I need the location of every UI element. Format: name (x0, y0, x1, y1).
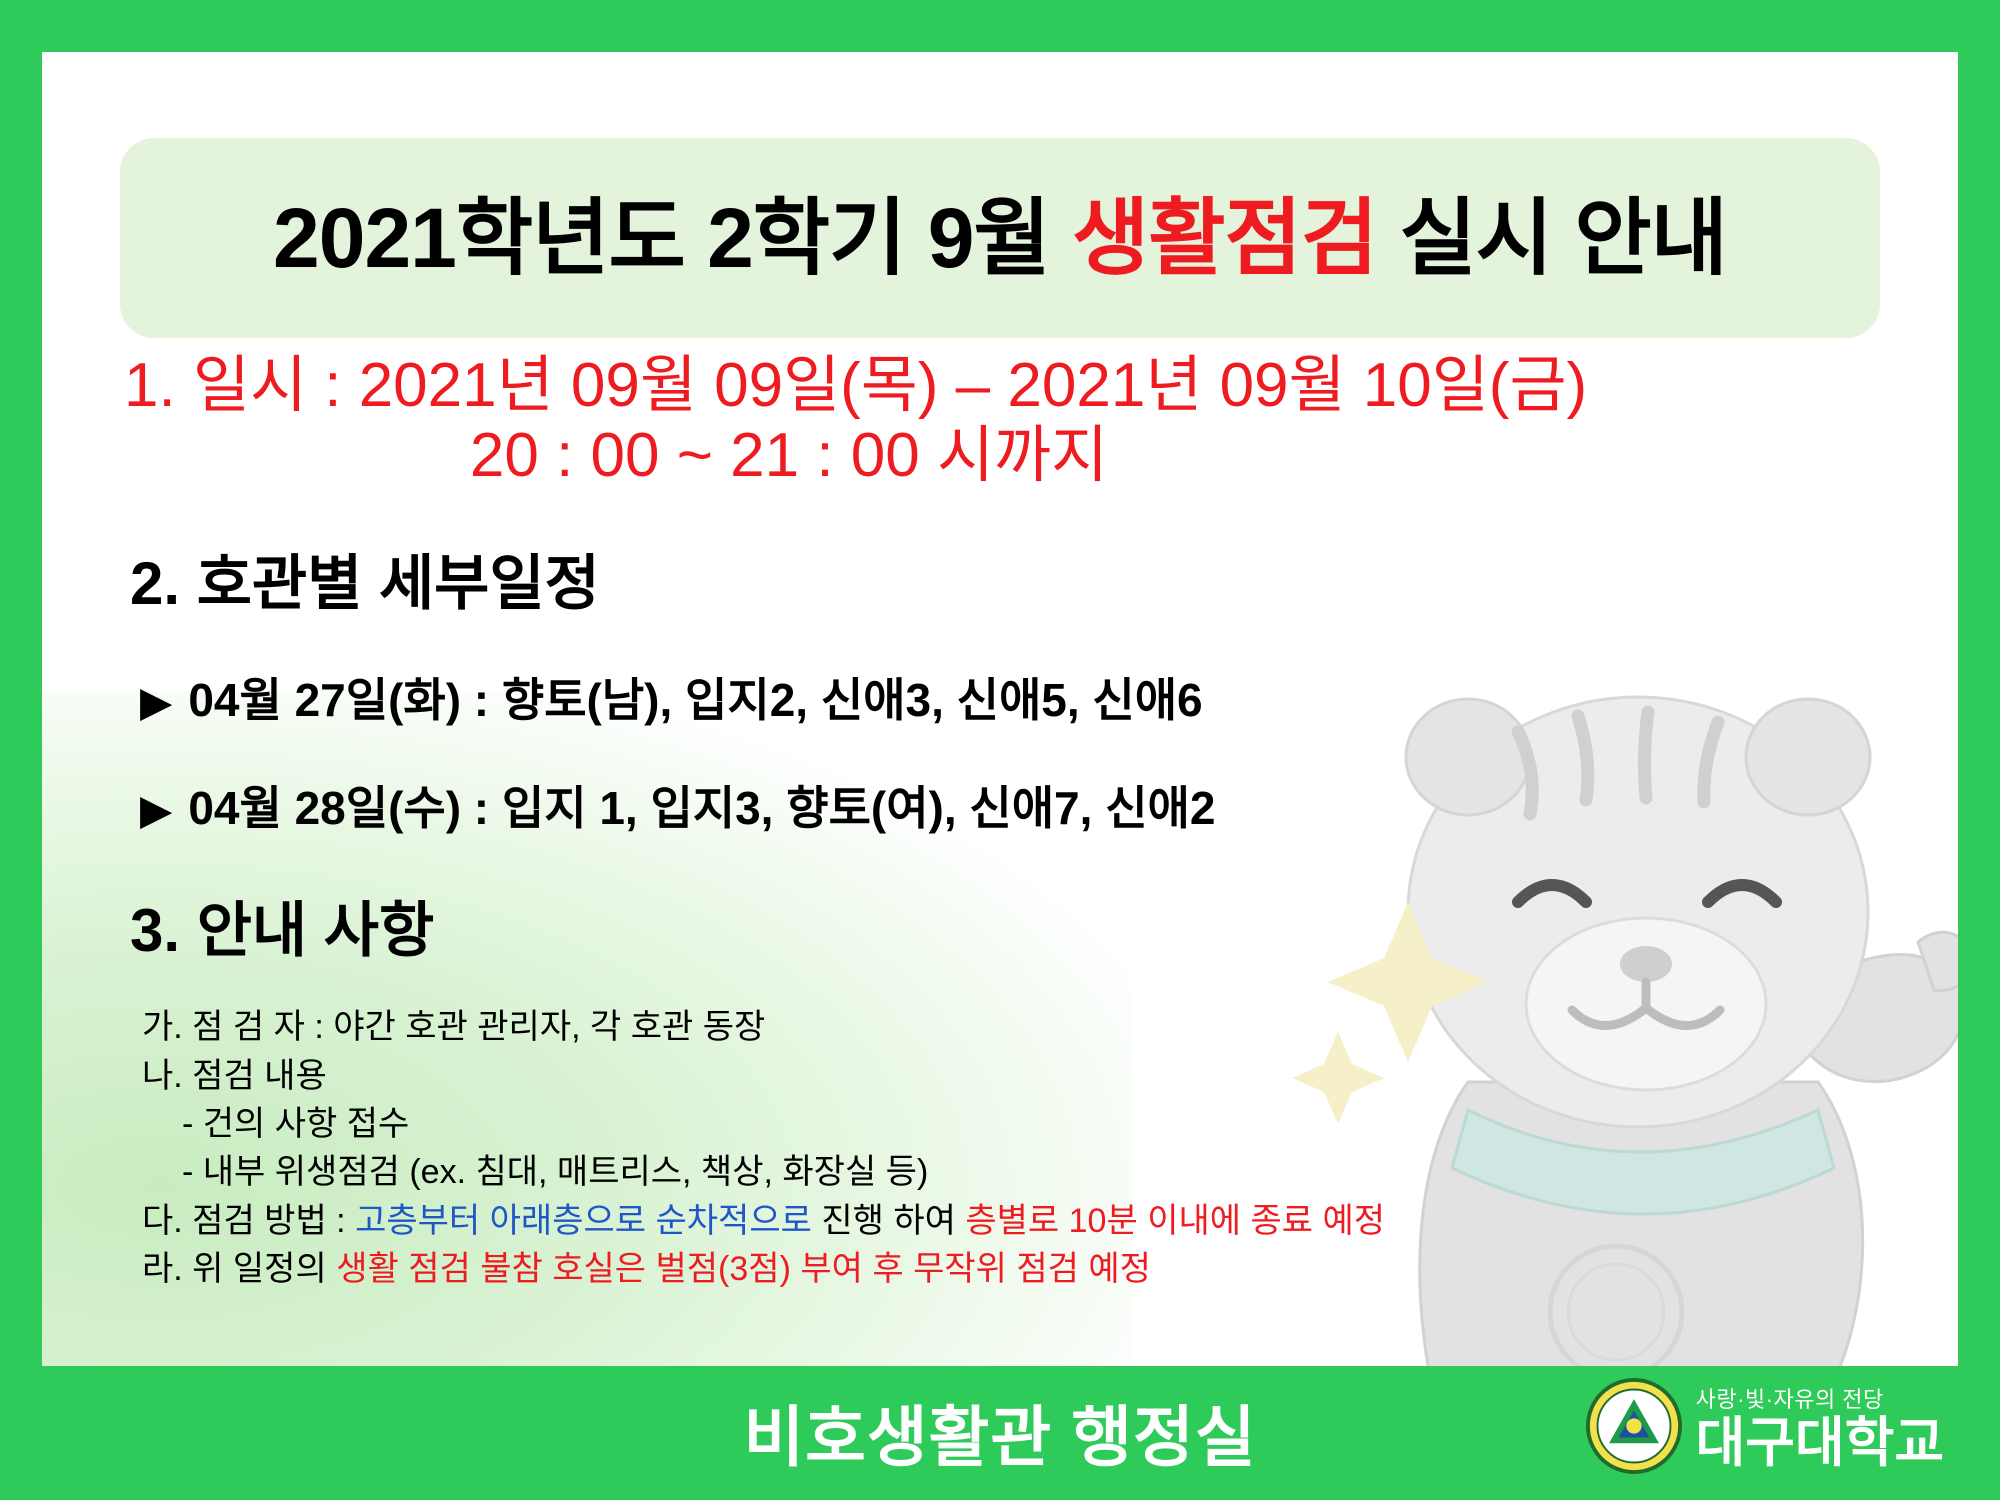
university-name: 대구대학교 (1696, 1416, 1944, 1470)
triangle-bullet-icon: ▶ (140, 786, 172, 833)
title-banner: 2021학년도 2학기 9월 생활점검 실시 안내 (120, 138, 1880, 338)
poster-root: 2021학년도 2학기 9월 생활점검 실시 안내 1. 일시 : 2021년 … (0, 0, 2000, 1500)
university-slogan: 사랑·빛·자유의 전당 (1696, 1382, 1884, 1414)
notice-item-ga: 가. 점 검 자 : 야간 호관 관리자, 각 호관 동장 (142, 1003, 1958, 1051)
schedule-bullet-1: ▶04월 27일(화) : 향토(남), 입지2, 신애3, 신애5, 신애6 (140, 664, 1958, 730)
footer-band: 비호생활관 행정실 사랑·빛·자유의 전당 대구대학교 (0, 1366, 2000, 1500)
notice-item-da-blue: 고층부터 아래층으로 순차적으로 (355, 1202, 812, 1240)
notice-item-na-sub-2-text: - 내부 위생점검 (ex. 침대, 매트리스, 책상, 화장실 등) (142, 1148, 928, 1196)
title-highlight: 생활점검 (1072, 191, 1377, 285)
page-title: 2021학년도 2학기 9월 생활점검 실시 안내 (273, 196, 1727, 280)
section3-details: 가. 점 검 자 : 야간 호관 관리자, 각 호관 동장 나. 점검 내용 -… (142, 1003, 1958, 1293)
notice-item-da-prefix: 다. 점검 방법 : (142, 1202, 355, 1240)
university-logo: 사랑·빛·자유의 전당 대구대학교 (1586, 1378, 1944, 1474)
section2-heading: 2. 호관별 세부일정 (130, 535, 1958, 622)
notice-item-da-mid: 진행 하여 (812, 1202, 965, 1240)
title-before: 2021학년도 2학기 9월 (273, 191, 1072, 285)
section3-heading: 3. 안내 사항 (130, 882, 1958, 969)
notice-item-da-red: 층별로 10분 이내에 종료 예정 (965, 1202, 1385, 1240)
poster-content: 1. 일시 : 2021년 09월 09일(목) – 2021년 09월 10일… (42, 352, 1958, 1293)
notice-item-na: 나. 점검 내용 (142, 1052, 1958, 1100)
schedule-bullet-2-text: 04월 28일(수) : 입지 1, 입지3, 향토(여), 신애7, 신애2 (188, 782, 1215, 834)
university-emblem-icon (1586, 1378, 1682, 1474)
schedule-time-line: 20 : 00 ~ 21 : 00 시까지 (124, 420, 1454, 491)
schedule-bullet-1-text: 04월 27일(화) : 향토(남), 입지2, 신애3, 신애5, 신애6 (188, 674, 1202, 726)
triangle-bullet-icon: ▶ (140, 678, 172, 725)
university-wordmark: 사랑·빛·자유의 전당 대구대학교 (1696, 1382, 1944, 1470)
schedule-date-line: 1. 일시 : 2021년 09월 09일(목) – 2021년 09월 10일… (124, 352, 1958, 420)
title-after: 실시 안내 (1377, 191, 1727, 285)
schedule-bullet-2: ▶04월 28일(수) : 입지 1, 입지3, 향토(여), 신애7, 신애2 (140, 772, 1958, 838)
poster-sheet: 2021학년도 2학기 9월 생활점검 실시 안내 1. 일시 : 2021년 … (42, 52, 1958, 1366)
notice-item-ra: 라. 위 일정의 생활 점검 불참 호실은 벌점(3점) 부여 후 무작위 점검… (142, 1245, 1958, 1293)
notice-item-na-sub-1: - 건의 사항 접수 (142, 1100, 1958, 1148)
notice-item-ra-red: 생활 점검 불참 호실은 벌점(3점) 부여 후 무작위 점검 예정 (336, 1250, 1151, 1288)
notice-item-na-sub-2: - 내부 위생점검 (ex. 침대, 매트리스, 책상, 화장실 등) (142, 1148, 1958, 1196)
notice-item-na-sub-1-text: - 건의 사항 접수 (142, 1100, 409, 1148)
notice-item-da: 다. 점검 방법 : 고층부터 아래층으로 순차적으로 진행 하여 층별로 10… (142, 1197, 1958, 1245)
notice-item-ra-prefix: 라. 위 일정의 (142, 1250, 336, 1288)
